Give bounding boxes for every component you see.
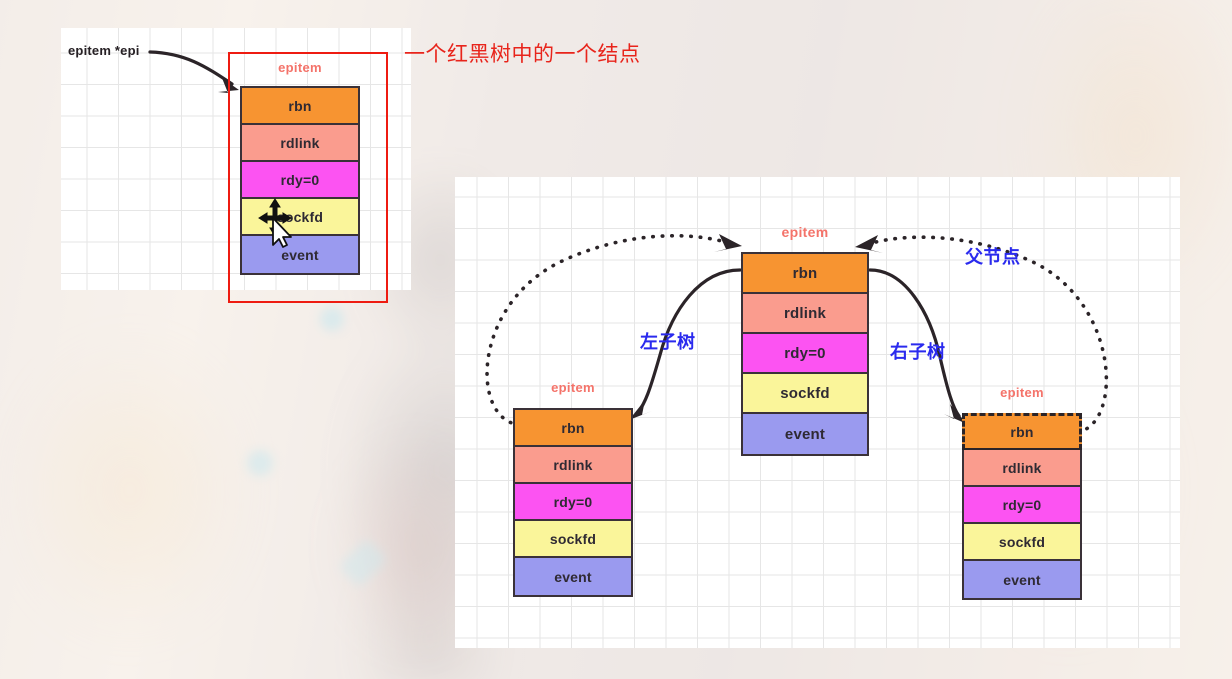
- epitem-node-title: epitem: [240, 60, 360, 75]
- field-rdy[interactable]: rdy=0: [743, 334, 867, 374]
- epitem-field-stack: rbn rdlink rdy=0 sockfd event: [513, 408, 633, 597]
- epitem-node-title: epitem: [513, 380, 633, 395]
- field-rdlink[interactable]: rdlink: [515, 447, 631, 484]
- field-event[interactable]: event: [515, 558, 631, 595]
- field-rdlink[interactable]: rdlink: [964, 450, 1080, 487]
- epitem-node-title: epitem: [741, 224, 869, 240]
- field-rdy[interactable]: rdy=0: [242, 162, 358, 199]
- field-rdlink[interactable]: rdlink: [743, 294, 867, 334]
- parent-node-label: 父节点: [965, 243, 1021, 269]
- move-cursor-icon: [258, 198, 304, 248]
- pointer-variable-label: epitem *epi: [68, 43, 140, 58]
- field-rbn[interactable]: rbn: [515, 410, 631, 447]
- field-rdy[interactable]: rdy=0: [964, 487, 1080, 524]
- field-rdlink[interactable]: rdlink: [242, 125, 358, 162]
- epitem-field-stack: rbn rdlink rdy=0 sockfd event: [962, 413, 1082, 600]
- epitem-field-stack: rbn rdlink rdy=0 sockfd event: [741, 252, 869, 456]
- field-rbn[interactable]: rbn: [242, 88, 358, 125]
- field-event[interactable]: event: [743, 414, 867, 454]
- field-event[interactable]: event: [964, 561, 1080, 598]
- field-rbn[interactable]: rbn: [743, 254, 867, 294]
- field-sockfd[interactable]: sockfd: [515, 521, 631, 558]
- epitem-node-title: epitem: [962, 385, 1082, 400]
- red-caption-text: 一个红黑树中的一个结点: [404, 38, 641, 68]
- field-rdy[interactable]: rdy=0: [515, 484, 631, 521]
- right-subtree-label: 右子树: [890, 338, 946, 364]
- field-sockfd[interactable]: sockfd: [743, 374, 867, 414]
- field-rbn[interactable]: rbn: [962, 413, 1082, 450]
- field-sockfd[interactable]: sockfd: [964, 524, 1080, 561]
- left-subtree-label: 左子树: [640, 328, 696, 354]
